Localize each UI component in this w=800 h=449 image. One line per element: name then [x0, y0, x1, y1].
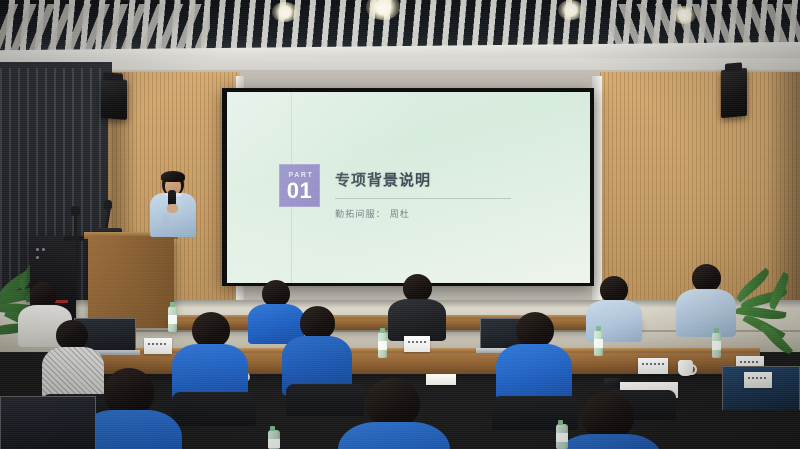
slide-text-block: 专项背景说明 勤拓间服： 周杜: [335, 164, 511, 220]
microphone-head: [71, 206, 80, 216]
bottled-water: [378, 332, 387, 358]
bottled-water: [268, 430, 280, 449]
attendee: [556, 392, 662, 449]
ceiling-downlight: [672, 6, 696, 24]
bottled-water: [712, 332, 721, 358]
presenter-hair: [161, 171, 185, 182]
attendee: [172, 312, 248, 404]
projection-screen-frame: PART 01 专项背景说明 勤拓间服： 周杜: [222, 88, 594, 286]
part-badge: PART 01: [279, 164, 320, 207]
attendee-head: [56, 320, 88, 350]
chair-back: [172, 392, 256, 426]
ceiling-downlight: [558, 0, 584, 20]
slide-content: PART 01 专项背景说明 勤拓间服： 周杜: [279, 164, 511, 220]
open-laptop[interactable]: [0, 396, 96, 449]
slide-subtitle: 勤拓间服： 周杜: [335, 207, 511, 220]
projection-screen: PART 01 专项背景说明 勤拓间服： 周杜: [227, 92, 590, 283]
presenter-hands: [167, 204, 178, 213]
loudspeaker-icon: [721, 68, 747, 118]
attendee-head: [192, 312, 230, 348]
microphone-head: [104, 200, 112, 210]
attendee-head: [300, 306, 335, 340]
attendee-head: [366, 378, 420, 428]
slide-divider: [335, 198, 511, 199]
attendee: [586, 276, 642, 336]
attendee-head: [600, 276, 628, 303]
attendee: [338, 378, 450, 449]
attendee-torso: [338, 422, 450, 449]
white-mug: [678, 360, 693, 376]
attendee-head: [516, 312, 554, 348]
ceiling-downlight: [272, 2, 298, 22]
attendee-head: [692, 264, 721, 292]
attendee-torso: [388, 299, 446, 341]
name-tent-card[interactable]: [404, 336, 430, 352]
attendee-head: [403, 274, 432, 302]
microphone-base: [64, 236, 86, 241]
attendee: [388, 274, 446, 336]
attendee-torso: [556, 434, 662, 449]
presenter: [150, 172, 196, 252]
conference-room-photo: PART 01 专项背景说明 勤拓间服： 周杜: [0, 0, 800, 449]
attendee-head: [262, 280, 290, 307]
attendee-head: [104, 368, 154, 416]
slide-title: 专项背景说明: [335, 169, 511, 190]
attendee: [676, 264, 736, 330]
name-tent-card[interactable]: [638, 358, 668, 374]
loudspeaker-icon: [101, 78, 127, 120]
attendee-torso: [676, 289, 736, 337]
name-tent-card[interactable]: [744, 372, 772, 388]
bottled-water: [594, 330, 603, 356]
attendee-head: [582, 392, 634, 440]
part-number: 01: [287, 180, 312, 202]
bottled-water: [556, 424, 568, 449]
name-tent-card[interactable]: [144, 338, 172, 354]
